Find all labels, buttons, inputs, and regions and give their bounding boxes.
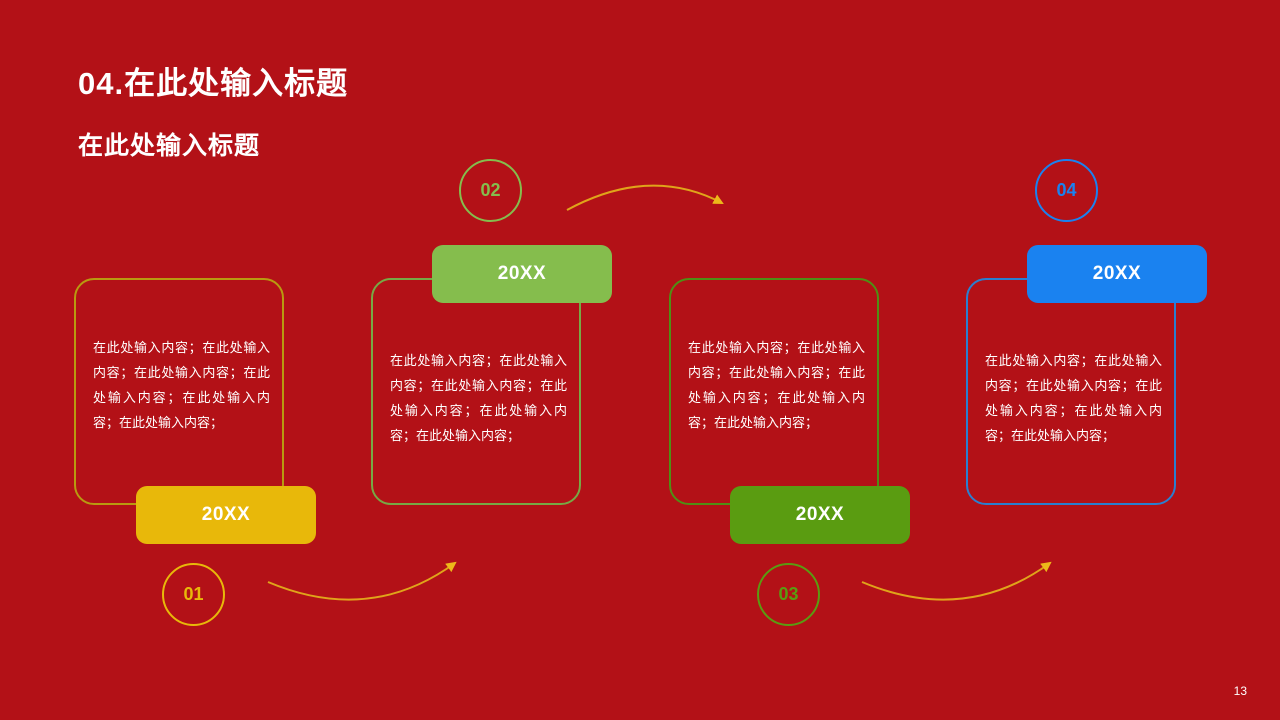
year-label-text: 20XX — [498, 263, 546, 285]
step-number-circle[interactable]: 04 — [1035, 159, 1098, 222]
year-label-text: 20XX — [796, 504, 844, 526]
card-body-text: 在此处输入内容；在此处输入内容；在此处输入内容；在此处输入内容；在此处输入内容；… — [390, 348, 567, 448]
step-number-circle[interactable]: 03 — [757, 563, 820, 626]
step-number-text: 03 — [778, 584, 798, 605]
card-body-text: 在此处输入内容；在此处输入内容；在此处输入内容；在此处输入内容；在此处输入内容；… — [688, 335, 865, 435]
arrow-03-to-04 — [862, 563, 1050, 600]
content-card: 在此处输入内容；在此处输入内容；在此处输入内容；在此处输入内容；在此处输入内容；… — [669, 278, 879, 505]
timeline-column-04: 在此处输入内容；在此处输入内容；在此处输入内容；在此处输入内容；在此处输入内容；… — [0, 0, 300, 720]
year-label-box[interactable]: 20XX — [730, 486, 910, 544]
content-card: 在此处输入内容；在此处输入内容；在此处输入内容；在此处输入内容；在此处输入内容；… — [966, 278, 1176, 505]
arrow-02-to-03 — [567, 186, 722, 210]
step-number-circle[interactable]: 02 — [459, 159, 522, 222]
year-label-box[interactable]: 20XX — [1027, 245, 1207, 303]
year-label-text: 20XX — [1093, 263, 1141, 285]
content-card: 在此处输入内容；在此处输入内容；在此处输入内容；在此处输入内容；在此处输入内容；… — [371, 278, 581, 505]
slide-canvas: 04.在此处输入标题 在此处输入标题 在此处输入内容；在此处输入内容；在此处输入… — [0, 0, 1280, 720]
year-label-box[interactable]: 20XX — [432, 245, 612, 303]
step-number-text: 02 — [480, 180, 500, 201]
step-number-text: 04 — [1056, 180, 1076, 201]
card-body-text: 在此处输入内容；在此处输入内容；在此处输入内容；在此处输入内容；在此处输入内容；… — [985, 348, 1162, 448]
page-number: 13 — [1234, 684, 1247, 698]
